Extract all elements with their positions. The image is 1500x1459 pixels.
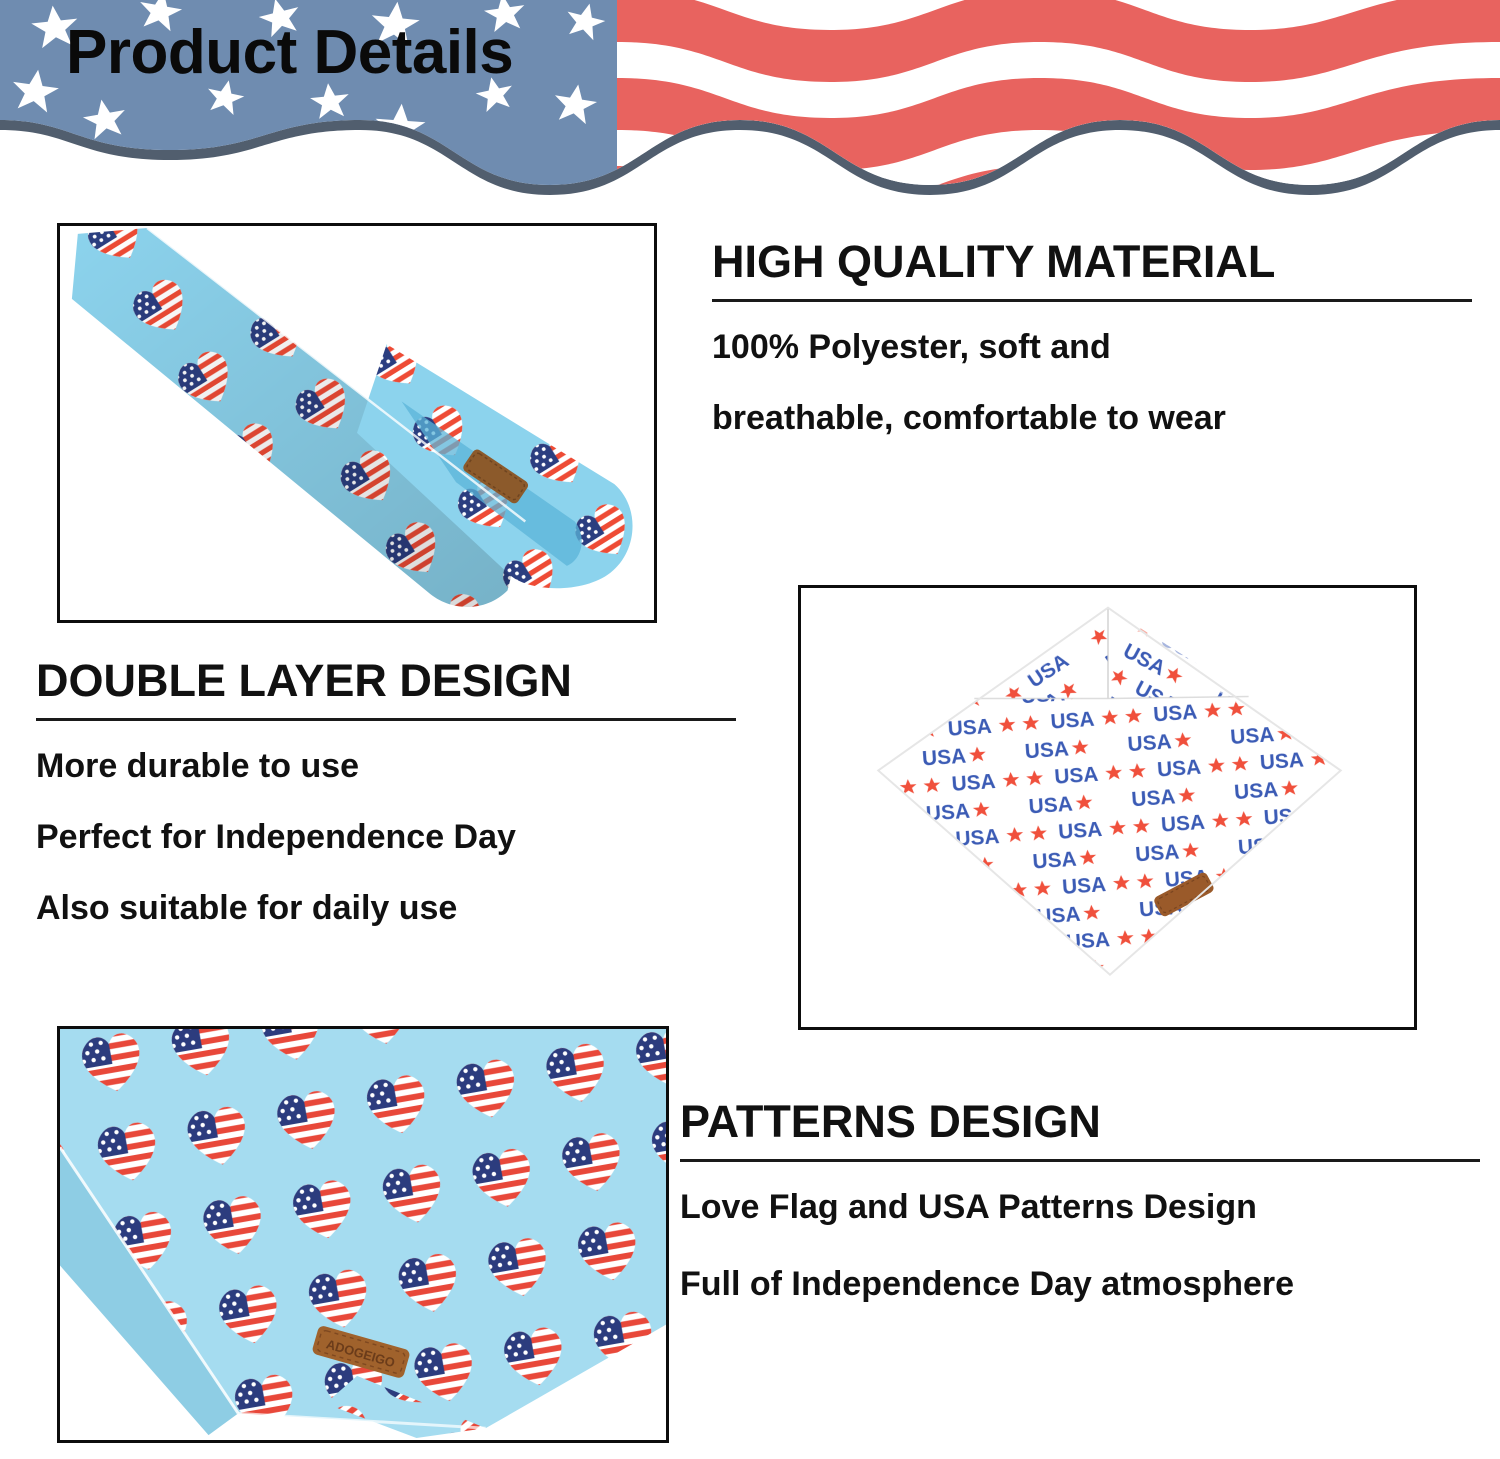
feature-line: Love Flag and USA Patterns Design bbox=[680, 1188, 1480, 1227]
feature-block-double-layer: DOUBLE LAYER DESIGN More durable to use … bbox=[36, 657, 736, 929]
rolled-bandana-illustration bbox=[60, 226, 654, 620]
feature-line: 100% Polyester, soft and bbox=[712, 328, 1472, 367]
product-photo-rolled-bandana[interactable] bbox=[57, 223, 657, 623]
feature-heading-double-layer: DOUBLE LAYER DESIGN bbox=[36, 657, 736, 704]
heading-divider bbox=[712, 299, 1472, 302]
heading-divider bbox=[680, 1159, 1480, 1162]
usa-bandana-illustration: USA USA USA USA bbox=[801, 588, 1414, 1027]
stripes-group bbox=[617, 0, 1500, 200]
product-photo-heart-bandana[interactable]: ADOGEIGO bbox=[57, 1026, 669, 1443]
product-photo-usa-bandana[interactable]: USA USA USA USA bbox=[798, 585, 1417, 1030]
feature-block-patterns: PATTERNS DESIGN Love Flag and USA Patter… bbox=[680, 1098, 1480, 1342]
feature-body-material: 100% Polyester, soft and breathable, com… bbox=[712, 328, 1472, 438]
page-title: Product Details bbox=[66, 22, 513, 84]
feature-line: breathable, comfortable to wear bbox=[712, 399, 1472, 438]
feature-line: Full of Independence Day atmosphere bbox=[680, 1265, 1480, 1304]
feature-heading-material: HIGH QUALITY MATERIAL bbox=[712, 238, 1472, 285]
feature-line: Perfect for Independence Day bbox=[36, 818, 736, 857]
heading-divider bbox=[36, 718, 736, 721]
feature-block-material: HIGH QUALITY MATERIAL 100% Polyester, so… bbox=[712, 238, 1472, 438]
feature-body-double-layer: More durable to use Perfect for Independ… bbox=[36, 747, 736, 928]
feature-line: Also suitable for daily use bbox=[36, 889, 736, 928]
feature-line: More durable to use bbox=[36, 747, 736, 786]
heart-bandana-illustration: ADOGEIGO bbox=[60, 1029, 666, 1440]
feature-body-patterns: Love Flag and USA Patterns Design Full o… bbox=[680, 1188, 1480, 1304]
feature-heading-patterns: PATTERNS DESIGN bbox=[680, 1098, 1480, 1145]
header-banner: Product Details bbox=[0, 0, 1500, 200]
